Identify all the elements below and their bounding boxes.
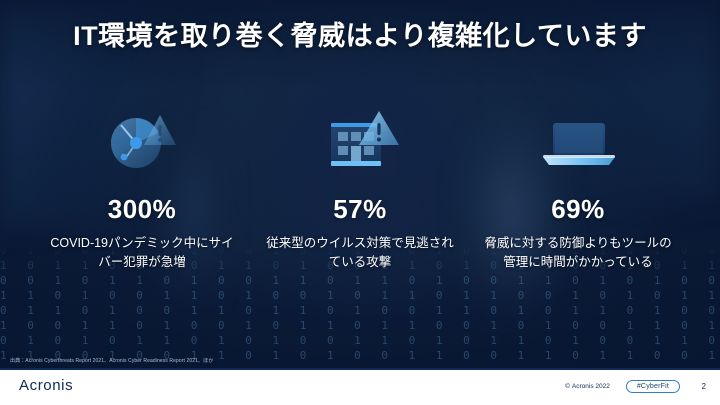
stat-card-1: 300% COVID-19パンデミック中にサイバー犯罪が急増 bbox=[33, 96, 251, 272]
copyright-notice: © Acronis 2022 bbox=[565, 383, 610, 390]
stat-description: 従来型のウイルス対策で見逃されている攻撃 bbox=[265, 234, 455, 272]
cyberfit-badge: #CyberFit bbox=[626, 380, 680, 393]
acronis-logo: Acronis bbox=[19, 377, 73, 394]
page-number: 2 bbox=[696, 382, 706, 391]
stat-card-3: 69% 脅威に対する防御よりもツールの管理に時間がかかっている bbox=[469, 96, 687, 272]
stat-value: 300% bbox=[108, 194, 177, 225]
statistics-row: 300% COVID-19パンデミック中にサイバー犯罪が急増 bbox=[0, 96, 720, 272]
slide-canvas: 0 1 0 0 1 1 0 1 0 0 1 0 1 1 0 0 1 0 1 0 … bbox=[0, 0, 720, 405]
source-citation: 出典：Acronis Cyberthreats Report 2021、Acro… bbox=[10, 357, 213, 364]
laptop-icon bbox=[535, 96, 621, 186]
binary-row: 1 0 0 1 1 0 1 0 0 1 0 1 1 0 1 1 0 0 1 0 … bbox=[0, 318, 720, 333]
stat-description: 脅威に対する防御よりもツールの管理に時間がかかっている bbox=[483, 234, 673, 272]
stat-card-2: 57% 従来型のウイルス対策で見逃されている攻撃 bbox=[251, 96, 469, 272]
footer-bar: Acronis © Acronis 2022 #CyberFit 2 bbox=[0, 368, 720, 405]
copyright-text: Acronis 2022 bbox=[572, 383, 610, 390]
stat-description: COVID-19パンデミック中にサイバー犯罪が急増 bbox=[47, 234, 237, 272]
virus-globe-warning-icon bbox=[103, 96, 181, 186]
binary-row: 0 1 0 1 0 1 1 0 1 0 1 0 0 1 1 0 1 0 1 1 … bbox=[0, 333, 720, 348]
stat-value: 57% bbox=[333, 194, 387, 225]
copyright-symbol-icon: © bbox=[565, 383, 570, 390]
stat-value: 69% bbox=[551, 194, 605, 225]
page-title: IT環境を取り巻く脅威はより複雑化しています bbox=[0, 14, 720, 53]
binary-row: 1 1 0 1 0 0 1 1 0 1 0 0 1 0 1 1 0 1 1 0 … bbox=[0, 288, 720, 303]
building-warning-icon bbox=[319, 96, 401, 186]
binary-row: 0 1 1 0 1 0 0 1 1 0 1 1 0 1 0 0 1 1 0 1 … bbox=[0, 303, 720, 318]
binary-row: 0 0 1 0 1 1 0 1 0 0 1 1 0 1 1 0 1 0 0 1 … bbox=[0, 273, 720, 288]
footer-right-group: © Acronis 2022 #CyberFit 2 bbox=[565, 368, 706, 405]
